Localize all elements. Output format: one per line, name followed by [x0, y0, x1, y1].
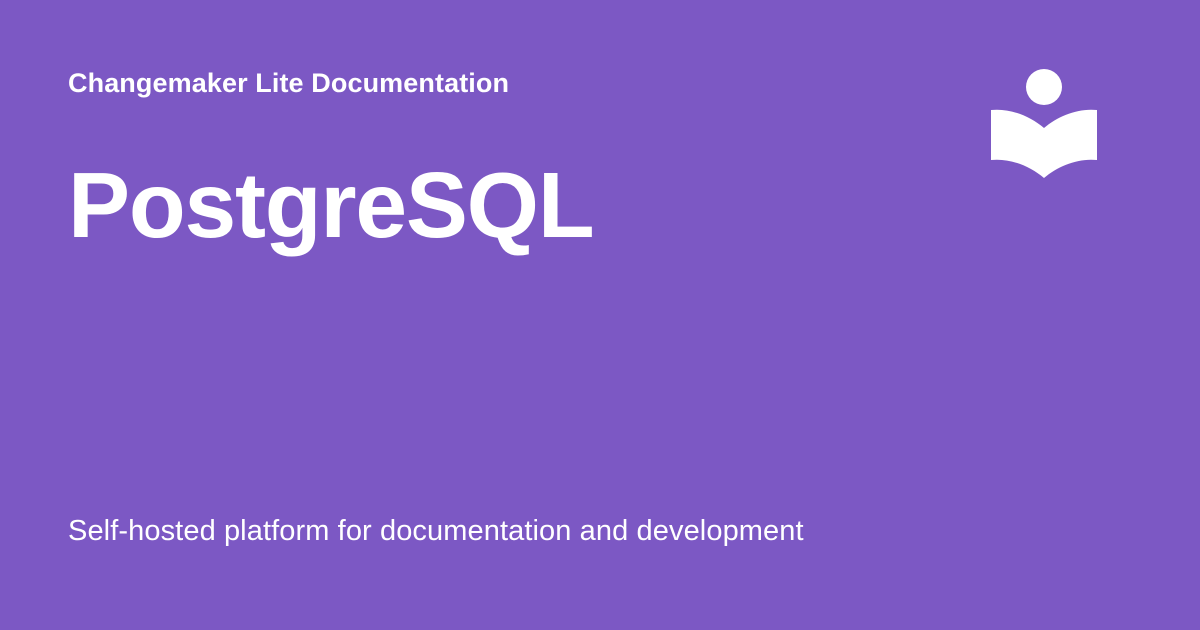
open-book-reader-icon: [986, 58, 1102, 184]
site-name: Changemaker Lite Documentation: [68, 68, 509, 99]
tagline: Self-hosted platform for documentation a…: [68, 513, 804, 551]
page-title: PostgreSQL: [68, 155, 593, 255]
social-preview-card: Changemaker Lite Documentation PostgreSQ…: [0, 0, 1200, 630]
